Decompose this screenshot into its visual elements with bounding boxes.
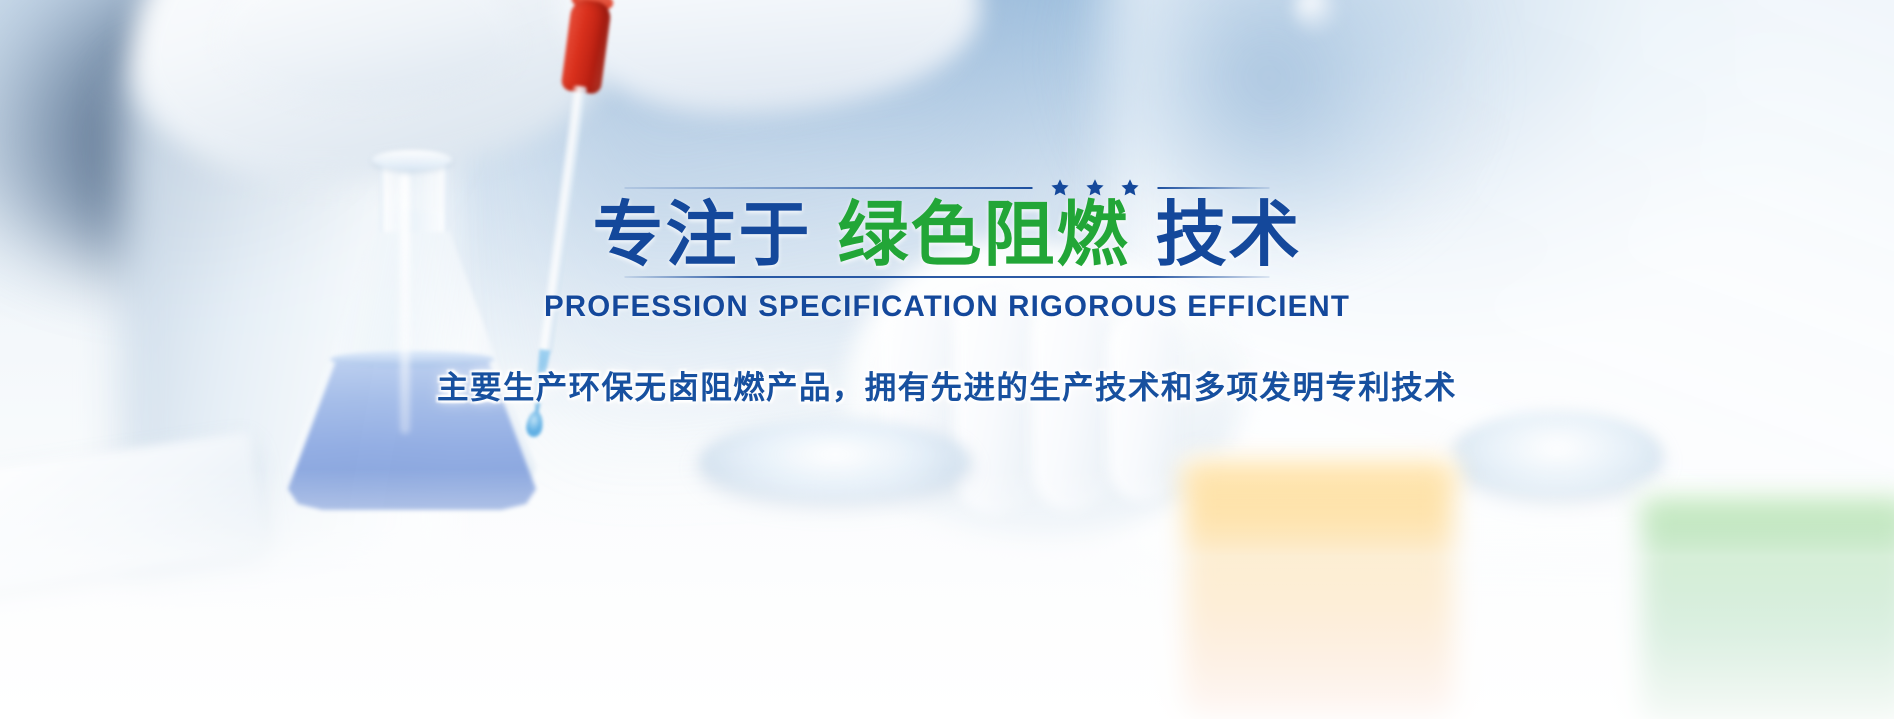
banner-content: 专注于绿色阻燃技术 PROFESSION SPECIFICATION RIGOR… [0, 0, 1894, 719]
subtitle-english: PROFESSION SPECIFICATION RIGOROUS EFFICI… [544, 290, 1350, 324]
star-icon [1121, 178, 1140, 197]
decorative-divider [625, 178, 1270, 197]
headline-part-1: 专注于 [592, 196, 811, 275]
star-icon [1086, 178, 1105, 197]
headline-part-2: 绿色阻燃 [837, 196, 1129, 275]
description-chinese: 主要生产环保无卤阻燃产品，拥有先进的生产技术和多项发明专利技术 [437, 362, 1457, 408]
star-icon [1051, 178, 1070, 197]
divider-line-left [625, 187, 1033, 189]
headline-part-3: 技术 [1156, 196, 1302, 275]
hero-banner: 专注于绿色阻燃技术 PROFESSION SPECIFICATION RIGOR… [0, 0, 1894, 719]
headline-underline [625, 276, 1270, 278]
divider-line-right [1158, 187, 1270, 189]
headline: 专注于绿色阻燃技术 [592, 198, 1301, 273]
divider-stars [1051, 178, 1140, 197]
